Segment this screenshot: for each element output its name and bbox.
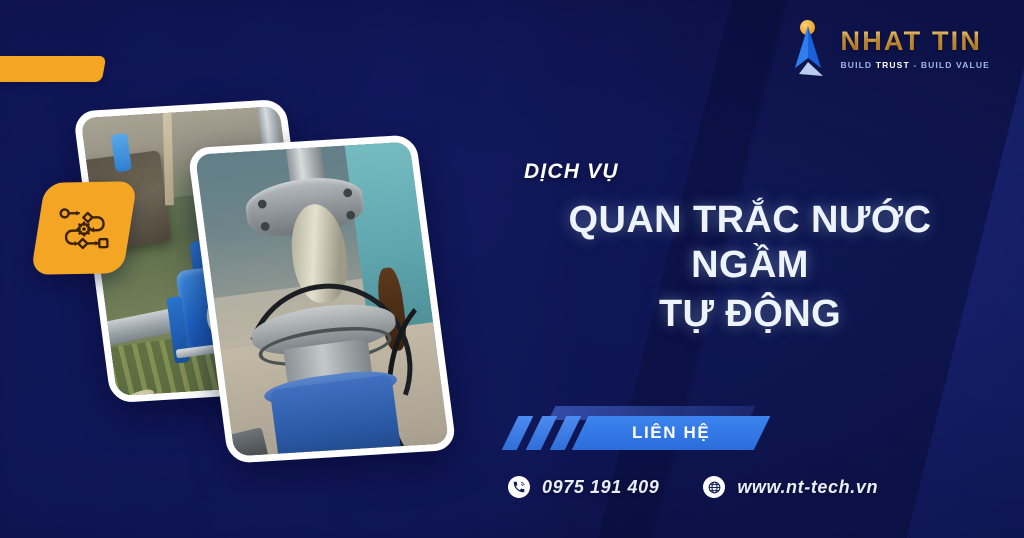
automation-workflow-badge xyxy=(31,181,138,275)
phone-number: 0975 191 409 xyxy=(542,477,659,498)
contact-website[interactable]: www.nt-tech.vn xyxy=(703,476,878,498)
contact-badge-label: LIÊN HỆ xyxy=(632,423,710,443)
logo-text-group: NHAT TIN BUILD TRUST - BUILD VALUE xyxy=(841,26,991,70)
marketing-banner: DỊCH VỤ QUAN TRẮC NƯỚC NGẦM TỰ ĐỘNG LIÊN… xyxy=(0,0,1024,538)
logo-tagline-suffix: - BUILD VALUE xyxy=(910,60,990,70)
headline-line-1: QUAN TRẮC NƯỚC NGẦM xyxy=(569,199,932,286)
page-title: QUAN TRẮC NƯỚC NGẦM TỰ ĐỘNG xyxy=(512,198,988,336)
contact-phone[interactable]: 0975 191 409 xyxy=(508,476,659,498)
automation-workflow-icon xyxy=(54,204,114,253)
photo-wellhead-pump xyxy=(187,134,457,463)
headline-line-2: TỰ ĐỘNG xyxy=(512,292,988,337)
logo-company-name: NHAT TIN xyxy=(841,26,983,57)
company-logo[interactable]: NHAT TIN BUILD TRUST - BUILD VALUE xyxy=(787,18,991,78)
phone-icon xyxy=(508,476,530,498)
website-url: www.nt-tech.vn xyxy=(737,477,878,498)
logo-tagline-prefix: BUILD xyxy=(841,60,876,70)
badge-body: LIÊN HỆ xyxy=(572,416,771,450)
globe-icon xyxy=(703,476,725,498)
logo-tagline: BUILD TRUST - BUILD VALUE xyxy=(841,60,991,70)
contact-info-row: 0975 191 409 www.nt-tech.vn xyxy=(508,476,878,498)
logo-tagline-highlight: TRUST xyxy=(876,60,910,70)
orange-bar-accent xyxy=(0,56,106,82)
photo-wellhead-pump-image xyxy=(187,134,457,463)
contact-badge[interactable]: LIÊN HỆ xyxy=(508,412,768,452)
arrow-compass-icon xyxy=(787,18,835,78)
eyebrow-label: DỊCH VỤ xyxy=(512,160,988,184)
headline-block: DỊCH VỤ QUAN TRẮC NƯỚC NGẦM TỰ ĐỘNG xyxy=(512,160,988,336)
